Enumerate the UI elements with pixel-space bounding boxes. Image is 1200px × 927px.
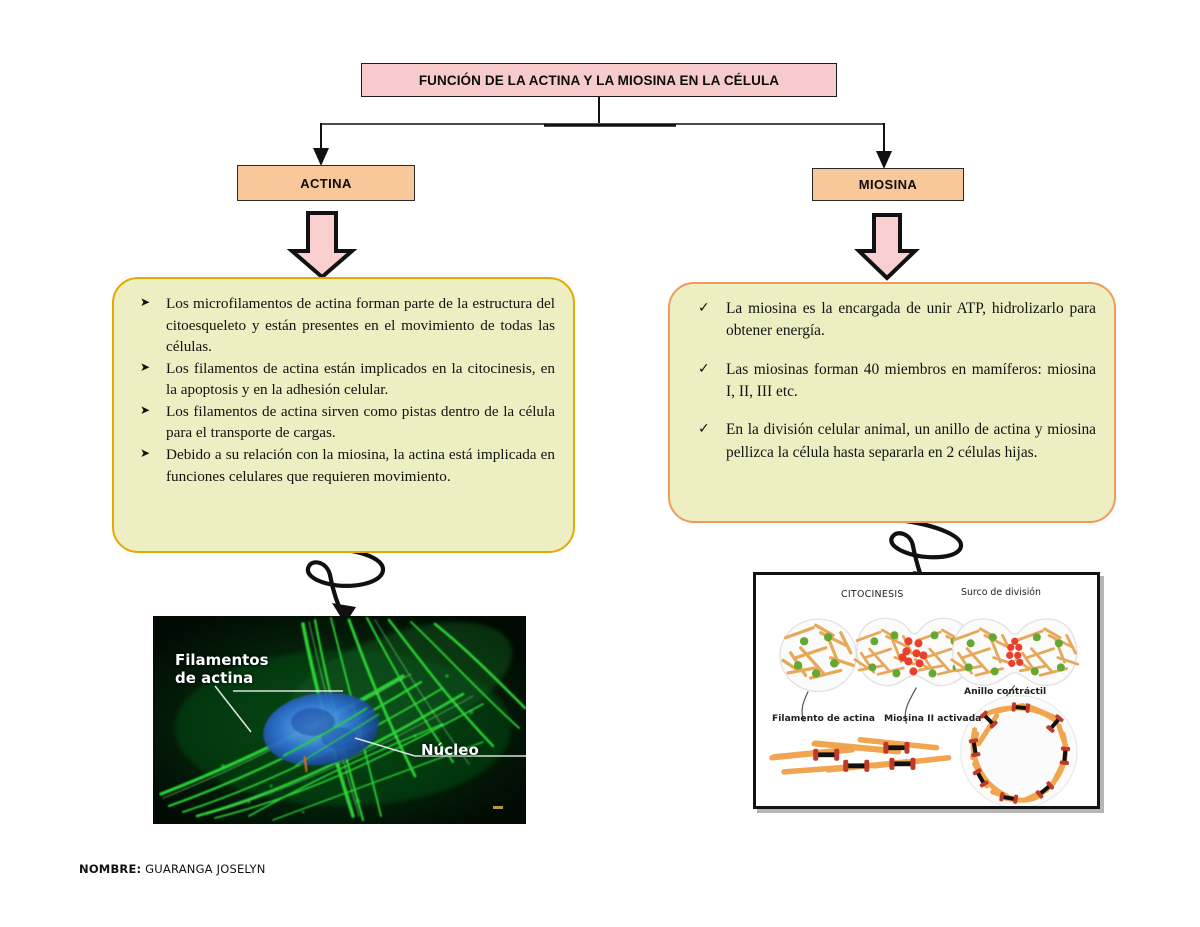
content-box-miosina: La miosina es la encargada de unir ATP, …: [668, 282, 1116, 523]
cyto-label-anillo: Anillo contráctil: [964, 686, 1046, 697]
cyto-label-citocinesis: CITOCINESIS: [841, 589, 904, 600]
cytokinesis-diagram: CITOCINESIS Surco de división Anillo con…: [753, 572, 1100, 809]
actin-fluorescence-photo: Filamentos de actina Núcleo: [153, 616, 526, 824]
footer-author: NOMBRE: GUARANGA JOSELYN: [79, 862, 266, 876]
cyto-label-surco: Surco de división: [961, 587, 1041, 598]
miosina-bullet-list: La miosina es la encargada de unir ATP, …: [684, 298, 1096, 464]
block-arrow-miosina: [859, 215, 915, 278]
diagram-title-box: FUNCIÓN DE LA ACTINA Y LA MIOSINA EN LA …: [361, 63, 837, 97]
cyto-label-filamento: Filamento de actina: [772, 713, 875, 724]
branch-box-miosina: MIOSINA: [812, 168, 964, 201]
photo-label-nucleo: Núcleo: [421, 742, 479, 760]
branch-label-actina: ACTINA: [300, 176, 352, 191]
squiggle-arrow-actina: [308, 549, 383, 620]
list-item: Los filamentos de actina están implicado…: [128, 358, 555, 401]
cyto-label-miosina: Miosina II activada: [884, 713, 981, 724]
list-item: En la división celular animal, un anillo…: [684, 419, 1096, 464]
diagram-canvas: FUNCIÓN DE LA ACTINA Y LA MIOSINA EN LA …: [0, 0, 1200, 927]
branch-box-actina: ACTINA: [237, 165, 415, 201]
list-item: Los microfilamentos de actina forman par…: [128, 293, 555, 358]
branch-label-miosina: MIOSINA: [859, 177, 917, 192]
list-item: Debido a su relación con la miosina, la …: [128, 444, 555, 487]
content-box-actina: Los microfilamentos de actina forman par…: [112, 277, 575, 553]
page-title: FUNCIÓN DE LA ACTINA Y LA MIOSINA EN LA …: [419, 73, 779, 88]
actin-photo-graphic: [153, 616, 526, 824]
footer-label: NOMBRE:: [79, 862, 141, 876]
list-item: Las miosinas forman 40 miembros en mamíf…: [684, 359, 1096, 404]
list-item: Los filamentos de actina sirven como pis…: [128, 401, 555, 444]
footer-value: GUARANGA JOSELYN: [141, 862, 265, 876]
photo-label-filamentos: Filamentos de actina: [175, 652, 269, 687]
list-item: La miosina es la encargada de unir ATP, …: [684, 298, 1096, 343]
block-arrow-actina: [292, 213, 352, 277]
actina-bullet-list: Los microfilamentos de actina forman par…: [128, 293, 555, 487]
